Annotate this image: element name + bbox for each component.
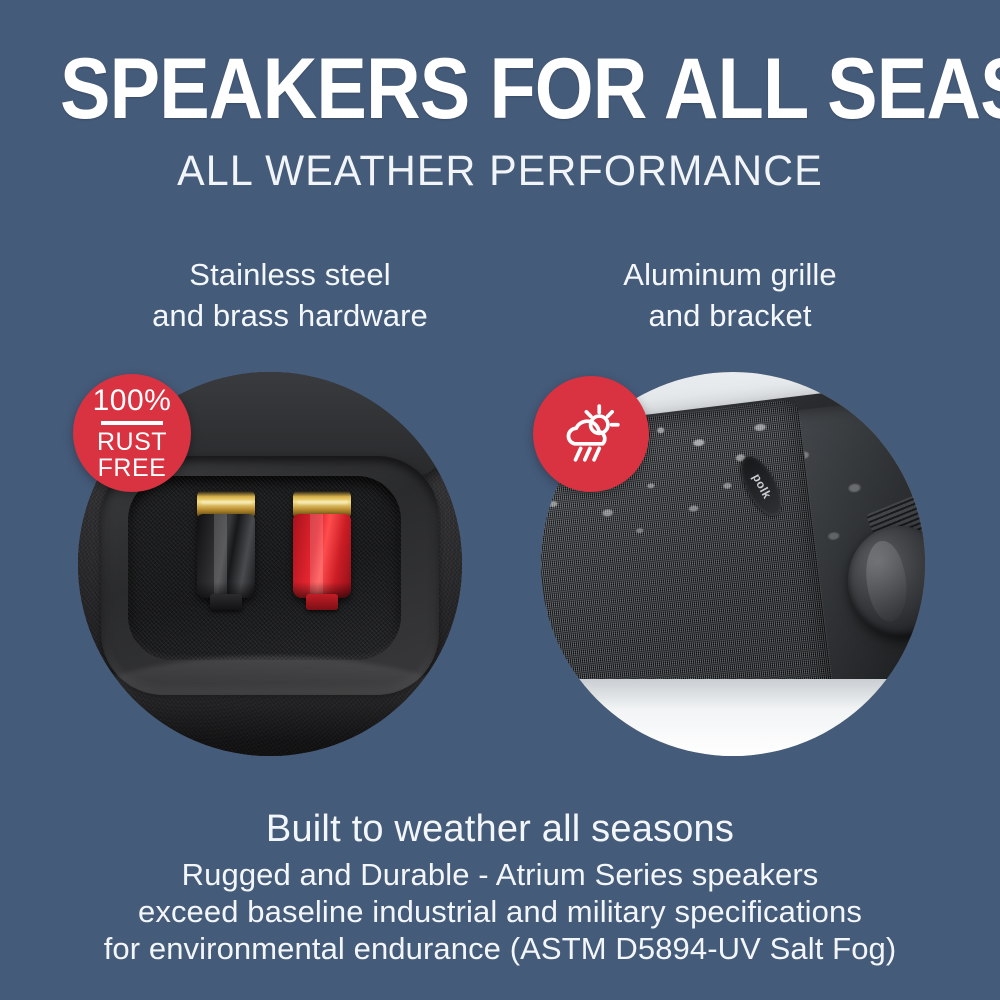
footer-line-2: exceed baseline industrial and military …	[0, 893, 1000, 930]
page-subtitle: ALL WEATHER PERFORMANCE	[20, 148, 980, 195]
rust-free-word1: RUST	[97, 429, 167, 455]
rust-free-word2: FREE	[98, 455, 167, 481]
photo-backdrop-bottom	[541, 679, 925, 756]
feature-caption-left-line1: Stainless steel	[189, 257, 390, 292]
feature-caption-left: Stainless steel and brass hardware	[55, 254, 525, 336]
rust-free-badge: 100% RUST FREE	[73, 374, 191, 492]
binding-post-negative	[197, 491, 255, 598]
sun-cloud-rain-icon	[558, 401, 624, 467]
page-title: SPEAKERS FOR ALL SEASONS	[60, 46, 940, 132]
post-cap-positive	[293, 514, 351, 598]
feature-caption-right: Aluminum grille and bracket	[505, 254, 955, 336]
terminal-well-texture	[128, 476, 401, 660]
weather-badge	[533, 376, 649, 492]
rust-free-divider	[101, 421, 163, 425]
footer-line-1: Rugged and Durable - Atrium Series speak…	[0, 856, 1000, 893]
terminal-cup-lip	[78, 656, 462, 756]
promo-image: SPEAKERS FOR ALL SEASONS ALL WEATHER PER…	[0, 0, 1000, 1000]
feature-caption-right-line2: and bracket	[505, 295, 955, 336]
terminal-recess-well	[128, 476, 401, 660]
rust-free-percent: 100%	[93, 386, 172, 416]
post-tip-negative	[210, 594, 242, 610]
feature-caption-right-line1: Aluminum grille	[623, 257, 836, 292]
footer-copy: Built to weather all seasons Rugged and …	[0, 806, 1000, 967]
footer-body: Rugged and Durable - Atrium Series speak…	[0, 856, 1000, 967]
post-cap-negative	[197, 514, 255, 598]
footer-line-3: for environmental endurance (ASTM D5894-…	[0, 930, 1000, 967]
post-tip-positive	[306, 594, 338, 610]
footer-headline: Built to weather all seasons	[0, 806, 1000, 853]
binding-post-positive	[293, 491, 351, 598]
polk-logo-text: polk	[749, 471, 774, 501]
feature-caption-left-line2: and brass hardware	[55, 295, 525, 336]
